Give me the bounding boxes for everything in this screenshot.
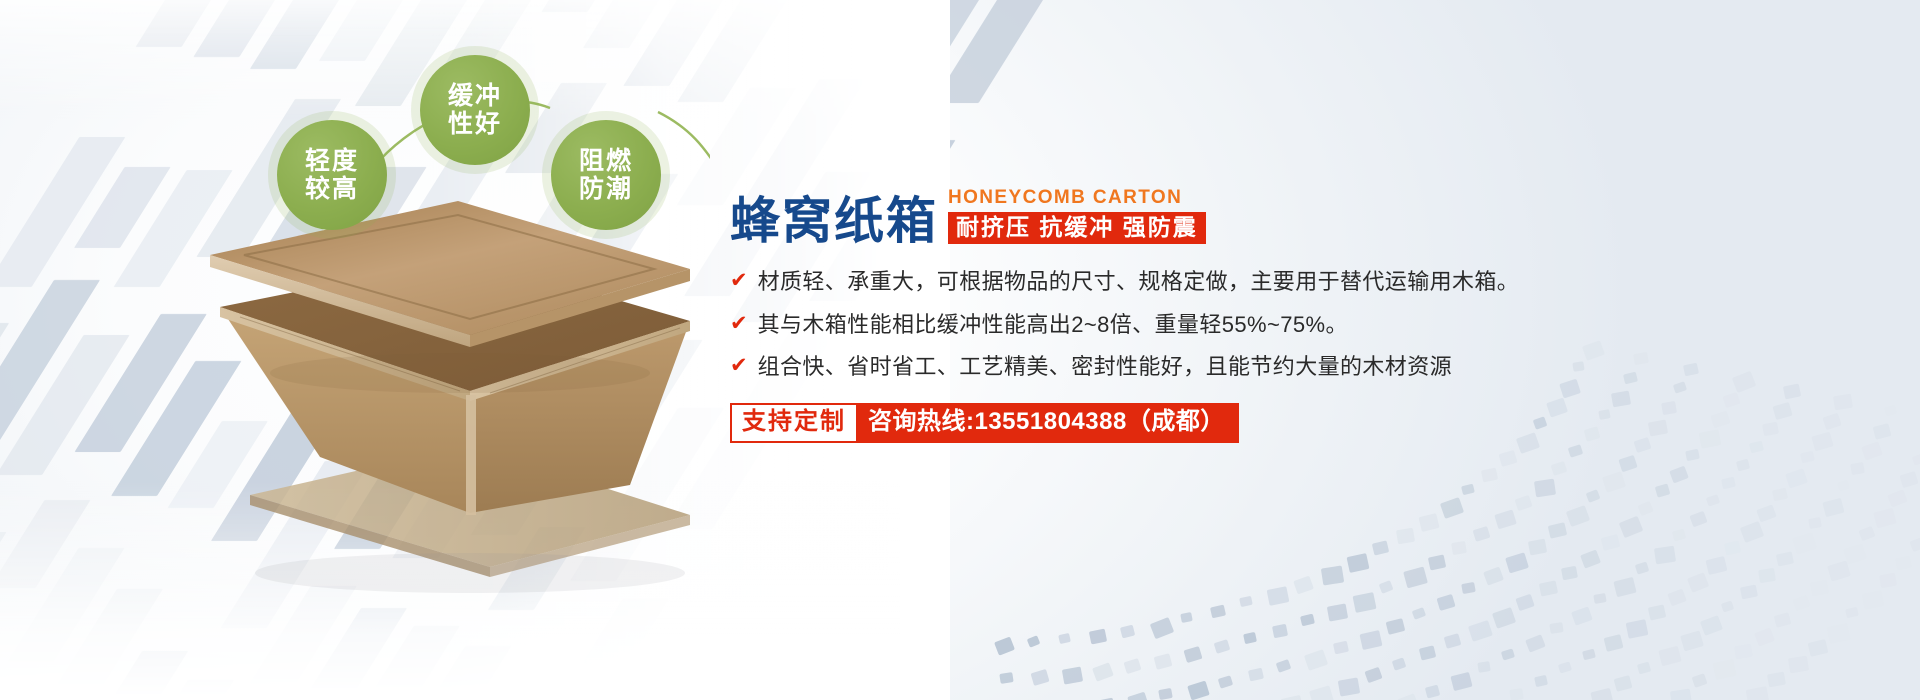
- page-title: 蜂窝纸箱: [730, 196, 938, 246]
- honeycomb-carton-image: [170, 195, 710, 595]
- feature-circle-line2: 性好: [448, 110, 502, 138]
- bullet-text: 组合快、省时省工、工艺精美、密封性能好，且能节约大量的木材资源: [758, 353, 1452, 381]
- feature-bullet-list: ✔ 材质轻、承重大，可根据物品的尺寸、规格定做，主要用于替代运输用木箱。 ✔ 其…: [730, 268, 1860, 381]
- feature-circle-flame-damp[interactable]: 阻燃 防潮: [551, 120, 661, 230]
- bullet-text: 材质轻、承重大，可根据物品的尺寸、规格定做，主要用于替代运输用木箱。: [758, 268, 1520, 296]
- list-item: ✔ 其与木箱性能相比缓冲性能高出2~8倍、重量轻55%~75%。: [730, 311, 1860, 339]
- custom-order-label: 支持定制: [732, 405, 856, 441]
- title-side-block: HONEYCOMB CARTON 耐挤压 抗缓冲 强防震: [948, 188, 1206, 246]
- bullet-text: 其与木箱性能相比缓冲性能高出2~8倍、重量轻55%~75%。: [758, 311, 1348, 339]
- list-item: ✔ 材质轻、承重大，可根据物品的尺寸、规格定做，主要用于替代运输用木箱。: [730, 268, 1860, 296]
- list-item: ✔ 组合快、省时省工、工艺精美、密封性能好，且能节约大量的木材资源: [730, 353, 1860, 381]
- feature-circle-line2: 较高: [305, 175, 359, 203]
- feature-circle-line1: 阻燃: [579, 147, 633, 175]
- check-icon: ✔: [730, 268, 748, 294]
- carton-illustration: [170, 195, 710, 595]
- promo-banner: 轻度 较高 缓冲 性好 阻燃 防潮 蜂窝纸箱 HONEYCOMB CARTON …: [0, 0, 1920, 700]
- hotline-label[interactable]: 咨询热线:13551804388（成都）: [856, 405, 1237, 441]
- feature-circle-line1: 轻度: [305, 147, 359, 175]
- feature-circle-cushioning[interactable]: 缓冲 性好: [420, 55, 530, 165]
- feature-circle-line1: 缓冲: [448, 82, 502, 110]
- cta-hotline-bar[interactable]: 支持定制 咨询热线:13551804388（成都）: [730, 403, 1239, 443]
- check-icon: ✔: [730, 353, 748, 379]
- feature-circle-line2: 防潮: [579, 175, 633, 203]
- title-row: 蜂窝纸箱 HONEYCOMB CARTON 耐挤压 抗缓冲 强防震: [730, 188, 1860, 246]
- product-info-panel: 蜂窝纸箱 HONEYCOMB CARTON 耐挤压 抗缓冲 强防震 ✔ 材质轻、…: [730, 188, 1860, 443]
- feature-circle-light-weight[interactable]: 轻度 较高: [277, 120, 387, 230]
- english-title: HONEYCOMB CARTON: [948, 188, 1206, 207]
- check-icon: ✔: [730, 311, 748, 337]
- feature-badge: 耐挤压 抗缓冲 强防震: [948, 212, 1206, 244]
